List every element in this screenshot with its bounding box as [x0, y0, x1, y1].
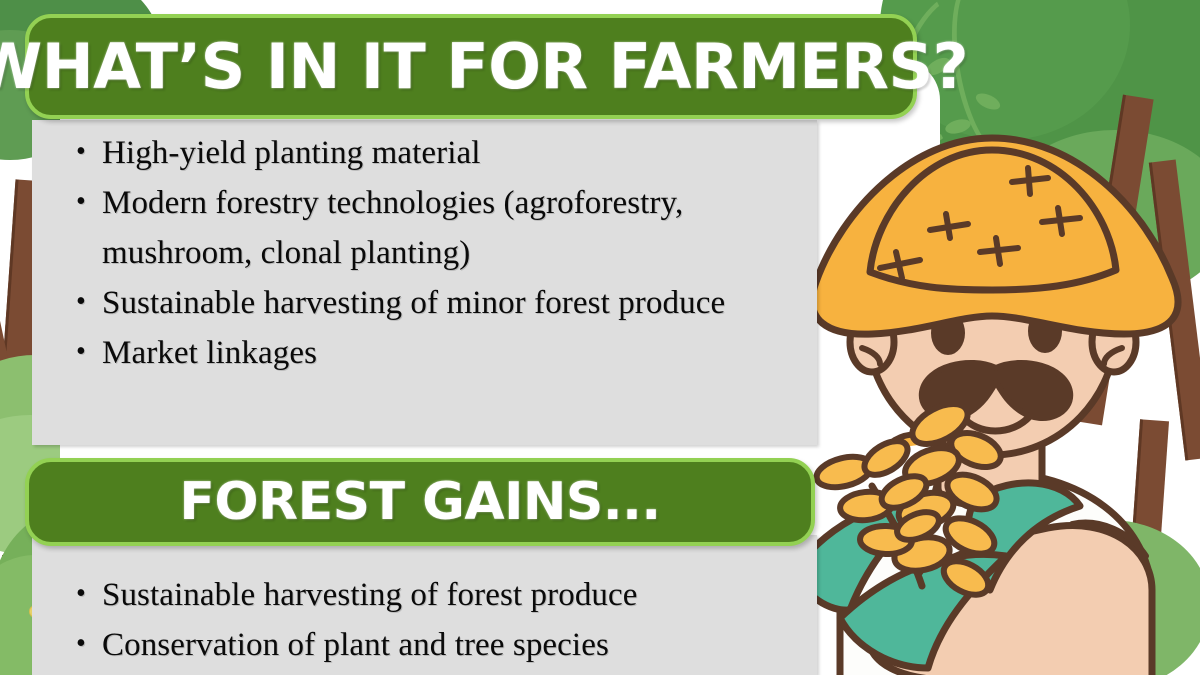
farmer-benefits-list: High-yield planting material Modern fore… — [68, 128, 808, 378]
list-item: Market linkages — [68, 328, 808, 378]
list-item: High-yield planting material — [68, 128, 808, 178]
slide-canvas: High-yield planting material Modern fore… — [0, 0, 1200, 675]
list-item: Conservation of plant and tree species — [68, 620, 808, 670]
banner-whats-in-it-for-farmers: WHAT’S IN IT FOR FARMERS? — [25, 14, 917, 119]
banner-forest-gains: FOREST GAINS... — [25, 458, 815, 546]
forest-gains-list: Sustainable harvesting of forest produce… — [68, 570, 808, 670]
list-item: Modern forestry technologies (agroforest… — [68, 178, 808, 278]
page-title: WHAT’S IN IT FOR FARMERS? — [0, 30, 968, 103]
section-title: FOREST GAINS... — [179, 472, 660, 532]
list-item: Sustainable harvesting of forest produce — [68, 570, 808, 620]
farmer-illustration — [780, 120, 1200, 675]
list-item: Sustainable harvesting of minor forest p… — [68, 278, 808, 328]
